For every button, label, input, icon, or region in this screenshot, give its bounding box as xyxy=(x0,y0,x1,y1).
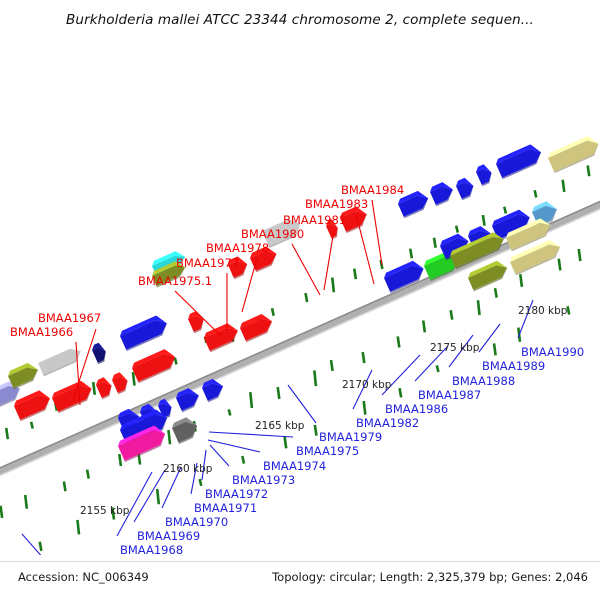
gene-feature[interactable] xyxy=(454,176,477,200)
gene-label-bmaa1982[interactable]: BMAA1982 xyxy=(356,418,419,430)
footer-divider xyxy=(0,561,600,562)
gene-feature[interactable] xyxy=(428,179,456,206)
leader-line xyxy=(288,385,316,423)
gene-label-bmaa1975[interactable]: BMAA1975 xyxy=(296,446,359,458)
gene-label-bmaa1980[interactable]: BMAA1980 xyxy=(241,229,304,241)
gene-label-bmaa1988[interactable]: BMAA1988 xyxy=(452,376,515,388)
gene-label-bmaa1967[interactable]: BMAA1967 xyxy=(38,313,101,325)
leader-line xyxy=(209,432,293,437)
gene-feature[interactable] xyxy=(474,163,495,187)
sequence-stats-text: Topology: circular; Length: 2,325,379 bp… xyxy=(272,570,588,588)
gene-feature[interactable] xyxy=(546,133,600,173)
gene-feature[interactable] xyxy=(50,378,95,413)
gene-label-bmaa1974[interactable]: BMAA1974 xyxy=(263,461,326,473)
gene-label-bmaa1971[interactable]: BMAA1971 xyxy=(194,503,257,515)
gene-label-bmaa1975-1[interactable]: BMAA1975.1 xyxy=(138,276,212,288)
gene-label-bmaa1972[interactable]: BMAA1972 xyxy=(205,489,268,501)
gene-label-bmaa1966[interactable]: BMAA1966 xyxy=(10,327,73,339)
leader-line xyxy=(372,200,382,265)
page-title: Burkholderia mallei ATCC 23344 chromosom… xyxy=(0,12,600,28)
gene-feature[interactable] xyxy=(494,142,544,179)
gene-label-bmaa1989[interactable]: BMAA1989 xyxy=(482,361,545,373)
ruler-tick-label: 2175 kbp xyxy=(430,343,479,354)
gene-label-bmaa1981[interactable]: BMAA1981 xyxy=(283,215,346,227)
gene-feature[interactable] xyxy=(94,376,115,400)
gene-label-bmaa1990[interactable]: BMAA1990 xyxy=(521,347,584,359)
accession-text: Accession: NC_006349 xyxy=(18,570,149,588)
leader-line xyxy=(292,244,320,295)
genome-map-svg[interactable] xyxy=(0,40,600,555)
gene-feature[interactable] xyxy=(12,388,53,421)
gene-label-bmaa1984[interactable]: BMAA1984 xyxy=(341,185,404,197)
gene-feature[interactable] xyxy=(238,311,275,342)
leader-line xyxy=(210,445,229,466)
ruler-tick-label: 2180 kbp xyxy=(518,306,567,317)
leader-line xyxy=(479,324,500,352)
leader-line xyxy=(208,440,260,452)
gene-feature[interactable] xyxy=(130,346,179,383)
gene-feature[interactable] xyxy=(186,310,207,334)
ruler-tick-label: 2170 kbp xyxy=(342,380,391,391)
gene-label-bmaa1986[interactable]: BMAA1986 xyxy=(385,404,448,416)
ruler-tick-label: 2160 kbp xyxy=(163,464,212,475)
genome-map-canvas[interactable]: BMAA1966BMAA1967BMAA1975.1BMAA1977BMAA19… xyxy=(0,40,600,555)
gene-label-bmaa1979[interactable]: BMAA1979 xyxy=(319,432,382,444)
leader-line xyxy=(117,472,152,536)
gene-feature[interactable] xyxy=(110,371,131,395)
gene-label-bmaa1978[interactable]: BMAA1978 xyxy=(206,243,269,255)
gene-label-bmaa1970[interactable]: BMAA1970 xyxy=(165,517,228,529)
ruler-tick-label: 2155 kbp xyxy=(80,506,129,517)
ruler-tick-label: 2165 kbp xyxy=(255,421,304,432)
gene-label-bmaa1977[interactable]: BMAA1977 xyxy=(176,258,239,270)
leader-line xyxy=(356,214,374,284)
gene-label-bmaa1973[interactable]: BMAA1973 xyxy=(232,475,295,487)
gene-label-bmaa1983[interactable]: BMAA1983 xyxy=(305,199,368,211)
gene-label-bmaa1987[interactable]: BMAA1987 xyxy=(418,390,481,402)
gene-feature[interactable] xyxy=(90,341,109,364)
gene-feature[interactable] xyxy=(118,313,170,351)
gene-label-bmaa1968[interactable]: BMAA1968 xyxy=(120,545,183,555)
gene-label-bmaa1969[interactable]: BMAA1969 xyxy=(137,531,200,543)
leader-line xyxy=(22,534,52,555)
